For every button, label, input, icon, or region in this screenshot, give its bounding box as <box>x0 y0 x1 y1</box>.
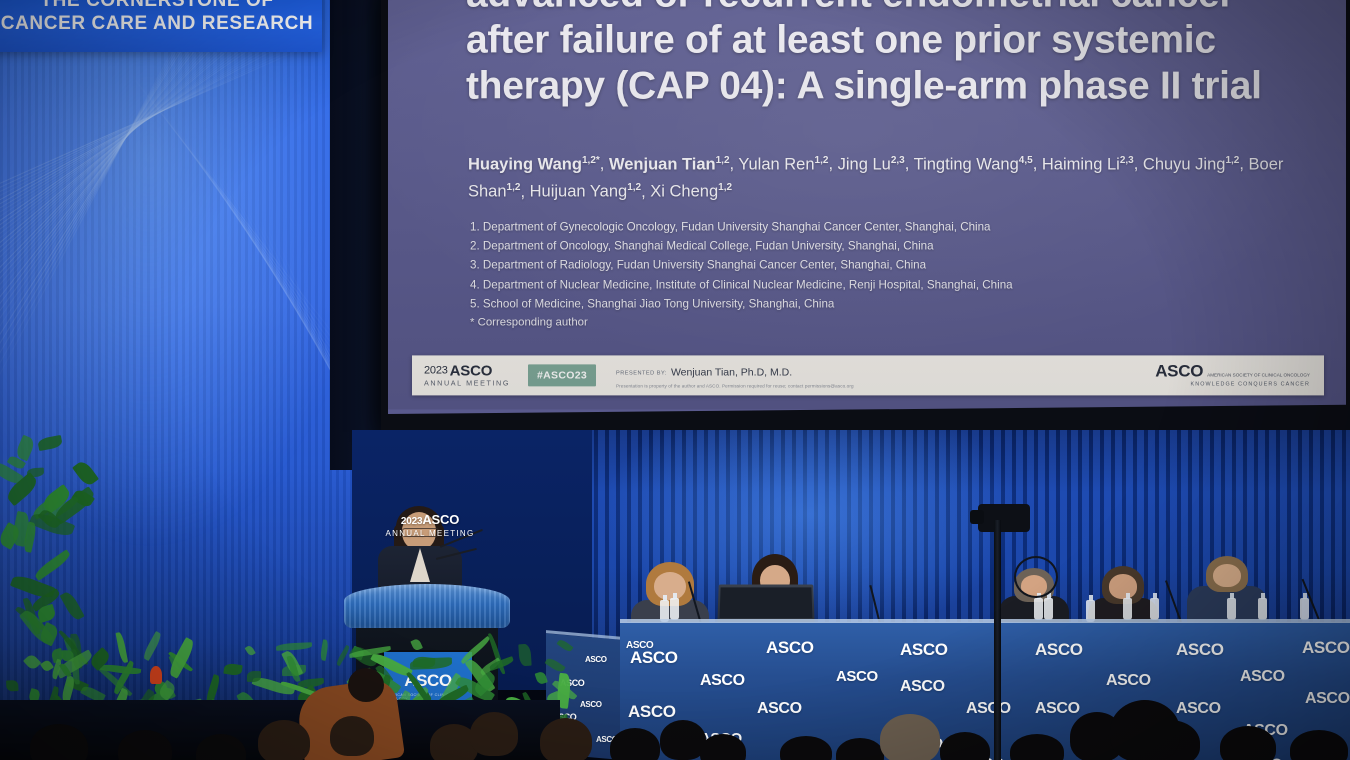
affiliation-line: 4. Department of Nuclear Medicine, Insti… <box>470 275 1170 294</box>
plant-leaf <box>518 644 531 667</box>
audience-head <box>700 734 746 760</box>
author-name: Jing Lu2,3 <box>838 155 905 173</box>
water-bottle <box>1150 598 1159 620</box>
author-affiliation-marker: 4,5 <box>1019 154 1033 165</box>
plant-leaf <box>223 663 243 677</box>
tall-plant-leaf <box>38 435 64 451</box>
footer-logo-line1: 2023ASCO <box>424 364 510 379</box>
plant-leaf <box>23 653 42 672</box>
author-name: Yulan Ren1,2 <box>738 155 828 173</box>
plant-flower <box>150 666 162 684</box>
slide-title-line-2: after failure of at least one prior syst… <box>466 17 1296 63</box>
audience-head <box>1290 730 1348 760</box>
audience-head <box>610 728 660 760</box>
author-affiliation-marker: 2,3 <box>1120 154 1134 165</box>
affiliation-line: 2. Department of Oncology, Shanghai Medi… <box>470 237 1170 256</box>
audience-silhouettes <box>0 690 1350 760</box>
podium-sign-main: 2023ASCO <box>340 512 520 527</box>
audience-head <box>940 732 990 760</box>
author-name: Wenjuan Tian1,2 <box>609 155 730 173</box>
plant-leaf <box>247 671 261 682</box>
slide-title: advanced or recurrent endometrial cancer… <box>466 0 1296 109</box>
footer-right-logo-mark: ASCO <box>1155 363 1203 380</box>
podium-sign: 2023ASCO ANNUAL MEETING <box>340 512 520 538</box>
venue-banner-line2: CANCER CARE AND RESEARCH <box>0 12 322 36</box>
audience-head <box>258 720 310 760</box>
conference-photo-scene: THE CORNERSTONE OF CANCER CARE AND RESEA… <box>0 0 1350 760</box>
author-name: Haiming Li2,3 <box>1042 155 1134 173</box>
water-bottle <box>670 598 679 620</box>
water-bottle <box>1258 598 1267 620</box>
author-affiliation-marker: 1,2 <box>507 182 521 193</box>
projection-screen: advanced or recurrent endometrial cancer… <box>388 0 1346 414</box>
plant-leaf <box>244 644 256 656</box>
footer-hashtag-badge: #ASCO23 <box>528 364 596 386</box>
footer-right-logo-sub: AMERICAN SOCIETY OF CLINICAL ONCOLOGY <box>1207 373 1310 379</box>
plant-leaf <box>545 656 566 674</box>
plant-leaf <box>410 657 452 670</box>
author-affiliation-marker: 1,2 <box>716 154 730 165</box>
audience-head <box>470 712 518 756</box>
slide-title-line-3: therapy (CAP 04): A single-arm phase II … <box>466 63 1296 109</box>
slide-footer-bar: 2023ASCO ANNUAL MEETING #ASCO23 PRESENTE… <box>412 355 1324 395</box>
author-name: Huaying Wang1,2* <box>468 155 600 173</box>
footer-logo-subtitle: ANNUAL MEETING <box>424 380 510 387</box>
audience-head <box>118 730 172 760</box>
author-name: Huijuan Yang1,2 <box>530 182 641 200</box>
panelist-head <box>1213 564 1241 587</box>
table-asco-logo: ASCO <box>1035 640 1083 660</box>
audience-head <box>1110 700 1180 760</box>
audience-head <box>30 724 88 760</box>
table-asco-logo: ASCO <box>1240 668 1285 686</box>
footer-right-tagline: KNOWLEDGE CONQUERS CANCER <box>1155 383 1310 388</box>
table-asco-logo: ASCO <box>1176 640 1224 660</box>
footer-presented-by-label: PRESENTED BY: <box>616 370 667 376</box>
author-affiliation-marker: 2,3 <box>891 154 905 165</box>
author-affiliation-marker: 1,2 <box>1225 154 1239 165</box>
author-affiliation-marker: 1,2 <box>815 154 829 165</box>
podium-front-panel <box>344 584 510 628</box>
stage-tall-plant <box>0 430 110 660</box>
plant-leaf <box>556 638 573 653</box>
footer-right-asco-logo: ASCO AMERICAN SOCIETY OF CLINICAL ONCOLO… <box>1155 363 1310 388</box>
plant-leaf <box>460 635 492 664</box>
tall-plant-leaf <box>10 572 56 601</box>
audience-head <box>1220 726 1276 760</box>
water-bottle <box>1034 598 1043 620</box>
camera-cable-loop <box>1014 556 1058 598</box>
audience-head <box>780 736 832 760</box>
author-name: Tingting Wang4,5 <box>914 155 1033 173</box>
corresponding-author-note: * Corresponding author <box>470 313 1170 332</box>
venue-banner-line1: THE CORNERSTONE OF <box>0 0 322 12</box>
plant-leaf <box>410 638 423 652</box>
tall-plant-leaf <box>60 590 85 622</box>
panel-table-top-edge <box>620 619 1350 623</box>
tall-plant-leaf <box>72 458 99 487</box>
affiliation-line: 5. School of Medicine, Shanghai Jiao Ton… <box>470 294 1170 313</box>
footer-presenter-name: Wenjuan Tian, Ph.D, M.D. <box>671 366 792 378</box>
audience-head <box>1010 734 1064 760</box>
table-asco-logo: ASCO <box>836 668 878 685</box>
slide-author-list: Huaying Wang1,2*, Wenjuan Tian1,2, Yulan… <box>468 148 1316 203</box>
affiliation-line: 1. Department of Gynecologic Oncology, F… <box>470 217 1170 236</box>
slide-title-line-1: advanced or recurrent endometrial cancer <box>466 0 1296 17</box>
footer-logo-org: ASCO <box>450 363 493 380</box>
video-camera <box>978 504 1030 532</box>
affiliation-line: 3. Department of Radiology, Fudan Univer… <box>470 256 1170 275</box>
plant-leaf <box>319 639 329 661</box>
panelist-head <box>1109 574 1137 598</box>
table-asco-logo: ASCO <box>1302 638 1350 658</box>
author-name: Chuyu Jing1,2 <box>1143 155 1239 173</box>
tall-plant-leaf <box>33 549 73 581</box>
table-asco-logo: ASCO <box>766 638 814 658</box>
slide-affiliations: 1. Department of Gynecologic Oncology, F… <box>470 217 1170 332</box>
author-affiliation-marker: 1,2* <box>582 154 600 165</box>
water-bottle <box>1123 598 1132 620</box>
audience-head <box>836 738 884 760</box>
table-asco-logo: ASCO <box>1106 672 1151 690</box>
panelist-head <box>654 572 686 600</box>
audience-head <box>196 734 246 760</box>
plant-leaf <box>276 642 312 651</box>
footer-logo-year: 2023 <box>424 365 448 377</box>
audience-head <box>540 718 592 760</box>
author-affiliation-marker: 1,2 <box>627 182 641 193</box>
footer-fine-print: Presentation is property of the author a… <box>616 383 854 388</box>
water-bottle <box>1044 598 1053 620</box>
footer-asco-logo: 2023ASCO ANNUAL MEETING <box>424 364 510 387</box>
author-affiliation-marker: 1,2 <box>718 182 732 193</box>
audience-head <box>330 716 374 756</box>
footer-presented-by: PRESENTED BY:Wenjuan Tian, Ph.D, M.D. Pr… <box>616 362 854 388</box>
podium-sign-org: ASCO <box>422 512 459 527</box>
table-asco-logo: ASCO <box>700 672 745 690</box>
audience-head <box>880 714 940 760</box>
podium-sign-sub: ANNUAL MEETING <box>340 529 520 538</box>
table-asco-logo: ASCO <box>900 640 948 660</box>
water-bottle <box>1227 598 1236 620</box>
water-bottle <box>1300 598 1309 620</box>
podium-sign-year: 2023 <box>401 516 422 527</box>
venue-banner: THE CORNERSTONE OF CANCER CARE AND RESEA… <box>0 0 322 52</box>
plant-leaf <box>534 671 548 686</box>
author-name: Xi Cheng1,2 <box>650 182 732 200</box>
